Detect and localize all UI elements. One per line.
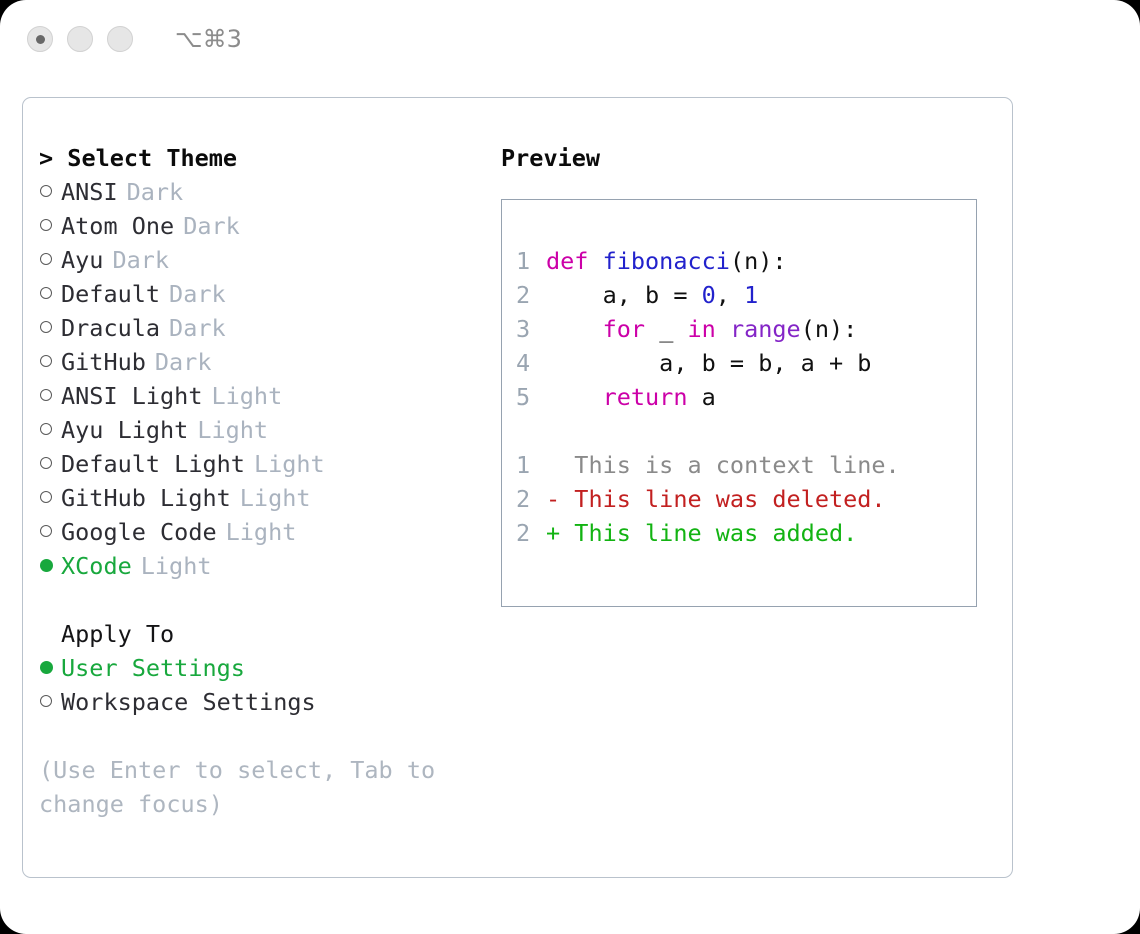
- theme-option-label: ANSI: [61, 175, 118, 209]
- radio-ring: [40, 287, 52, 299]
- window-dot-second[interactable]: [67, 26, 93, 52]
- code-line-content: for _ in range(n):: [546, 312, 857, 346]
- code-token-pl: _: [645, 315, 687, 343]
- theme-option-variant: Dark: [112, 243, 169, 277]
- apply-to-option-label: Workspace Settings: [61, 685, 316, 719]
- theme-option-variant: Dark: [127, 175, 184, 209]
- theme-option-variant: Light: [254, 447, 325, 481]
- theme-option-variant: Dark: [183, 209, 240, 243]
- code-token-pl: [716, 315, 730, 343]
- keyboard-shortcut-label: ⌥⌘3: [175, 25, 242, 53]
- theme-option-variant: Light: [240, 481, 311, 515]
- code-line-number: 2: [516, 278, 546, 312]
- radio-ring: [40, 491, 52, 503]
- code-line: 3 for _ in range(n):: [516, 312, 976, 346]
- apply-to-option-list: User SettingsWorkspace Settings: [39, 651, 499, 719]
- preview-title: Preview: [501, 141, 991, 175]
- code-token-fn: fibonacci: [603, 247, 730, 275]
- code-line: 5 return a: [516, 380, 976, 414]
- radio-ring: [40, 423, 52, 435]
- code-line: 2 a, b = 0, 1: [516, 278, 976, 312]
- code-token-kw: for: [603, 315, 645, 343]
- apply-to-option-user-settings[interactable]: User Settings: [39, 651, 499, 685]
- code-line-number: 1: [516, 244, 546, 278]
- code-line-content: return a: [546, 380, 716, 414]
- theme-option-default[interactable]: DefaultDark: [39, 277, 499, 311]
- theme-option-atom-one[interactable]: Atom OneDark: [39, 209, 499, 243]
- theme-option-label: Default Light: [61, 447, 245, 481]
- radio-dot: [40, 661, 53, 674]
- code-token-pl: a: [687, 383, 715, 411]
- theme-option-ayu-light[interactable]: Ayu LightLight: [39, 413, 499, 447]
- theme-option-variant: Dark: [155, 345, 212, 379]
- theme-option-label: Ayu: [61, 243, 103, 277]
- diff-line-add: 2+ This line was added.: [516, 516, 976, 550]
- apply-to-option-label: User Settings: [61, 651, 245, 685]
- code-token-pl: a, b =: [546, 281, 702, 309]
- theme-option-variant: Light: [197, 413, 268, 447]
- main-panel: > Select Theme ANSIDarkAtom OneDarkAyuDa…: [22, 97, 1013, 878]
- theme-option-github[interactable]: GitHubDark: [39, 345, 499, 379]
- radio-ring: [40, 253, 52, 265]
- code-line-content: a, b = b, a + b: [546, 346, 871, 380]
- select-theme-header: > Select Theme: [39, 141, 499, 175]
- radio-ring: [40, 185, 52, 197]
- radio-ring: [40, 389, 52, 401]
- diff-line-number: 2: [516, 516, 546, 550]
- theme-option-label: GitHub: [61, 345, 146, 379]
- code-token-pl: (n):: [730, 247, 787, 275]
- diff-line-text: This line was added.: [574, 516, 857, 550]
- theme-selection-column: > Select Theme ANSIDarkAtom OneDarkAyuDa…: [39, 141, 499, 821]
- code-token-kw: in: [688, 315, 716, 343]
- code-token-num: 0: [702, 281, 716, 309]
- window-dot-third[interactable]: [107, 26, 133, 52]
- radio-ring: [40, 219, 52, 231]
- window-dot-active[interactable]: [27, 26, 53, 52]
- theme-option-list: ANSIDarkAtom OneDarkAyuDarkDefaultDarkDr…: [39, 175, 499, 583]
- theme-option-google-code[interactable]: Google CodeLight: [39, 515, 499, 549]
- radio-dot: [40, 559, 53, 572]
- theme-option-label: Google Code: [61, 515, 217, 549]
- theme-option-label: Atom One: [61, 209, 174, 243]
- theme-option-default-light[interactable]: Default LightLight: [39, 447, 499, 481]
- theme-option-variant: Light: [211, 379, 282, 413]
- radio-ring: [40, 695, 52, 707]
- window-dot-active-inner: [36, 35, 45, 44]
- theme-option-label: GitHub Light: [61, 481, 231, 515]
- diff-marker: -: [546, 482, 574, 516]
- title-bar: ⌥⌘3: [0, 0, 1140, 78]
- diff-sample: 1 This is a context line.2- This line wa…: [516, 448, 976, 550]
- code-line-number: 5: [516, 380, 546, 414]
- theme-option-label: Default: [61, 277, 160, 311]
- diff-line-number: 2: [516, 482, 546, 516]
- keyboard-hint-text: (Use Enter to select, Tab to change focu…: [39, 753, 459, 821]
- diff-marker: +: [546, 516, 574, 550]
- code-line-content: a, b = 0, 1: [546, 278, 758, 312]
- theme-option-dracula[interactable]: DraculaDark: [39, 311, 499, 345]
- diff-line-text: This is a context line.: [574, 448, 899, 482]
- radio-ring: [40, 525, 52, 537]
- code-token-bi: range: [730, 315, 801, 343]
- theme-option-label: Dracula: [61, 311, 160, 345]
- preview-box: 1def fibonacci(n):2 a, b = 0, 13 for _ i…: [501, 199, 977, 607]
- radio-ring: [40, 457, 52, 469]
- apply-to-option-workspace-settings[interactable]: Workspace Settings: [39, 685, 499, 719]
- list-spacer: [39, 583, 499, 617]
- theme-option-github-light[interactable]: GitHub LightLight: [39, 481, 499, 515]
- theme-option-label: Ayu Light: [61, 413, 188, 447]
- code-token-pl: [546, 383, 603, 411]
- code-token-kw: def: [546, 247, 603, 275]
- code-line: 1def fibonacci(n):: [516, 244, 976, 278]
- code-line-content: def fibonacci(n):: [546, 244, 787, 278]
- theme-option-ansi-light[interactable]: ANSI LightLight: [39, 379, 499, 413]
- diff-marker: [546, 448, 574, 482]
- diff-line-text: This line was deleted.: [574, 482, 885, 516]
- theme-option-label: ANSI Light: [61, 379, 202, 413]
- diff-line-number: 1: [516, 448, 546, 482]
- theme-option-xcode[interactable]: XCodeLight: [39, 549, 499, 583]
- radio-ring: [40, 321, 52, 333]
- apply-to-header: Apply To: [39, 617, 499, 651]
- theme-option-variant: Light: [141, 549, 212, 583]
- theme-option-variant: Dark: [169, 277, 226, 311]
- code-token-pl: (n):: [801, 315, 858, 343]
- preview-column: Preview 1def fibonacci(n):2 a, b = 0, 13…: [501, 141, 991, 607]
- theme-option-ayu[interactable]: AyuDark: [39, 243, 499, 277]
- code-line: 4 a, b = b, a + b: [516, 346, 976, 380]
- code-token-pl: [546, 315, 603, 343]
- code-sample: 1def fibonacci(n):2 a, b = 0, 13 for _ i…: [516, 244, 976, 414]
- code-token-pl: ,: [716, 281, 744, 309]
- theme-option-ansi[interactable]: ANSIDark: [39, 175, 499, 209]
- diff-line-ctx: 1 This is a context line.: [516, 448, 976, 482]
- radio-ring: [40, 355, 52, 367]
- theme-option-variant: Light: [226, 515, 297, 549]
- code-token-num: 1: [744, 281, 758, 309]
- theme-option-variant: Dark: [169, 311, 226, 345]
- code-line-number: 3: [516, 312, 546, 346]
- code-token-pl: a, b = b, a + b: [546, 349, 871, 377]
- app-window: ⌥⌘3 > Select Theme ANSIDarkAtom OneDarkA…: [0, 0, 1140, 934]
- code-line-number: 4: [516, 346, 546, 380]
- code-token-kw: return: [603, 383, 688, 411]
- theme-option-label: XCode: [61, 549, 132, 583]
- diff-line-del: 2- This line was deleted.: [516, 482, 976, 516]
